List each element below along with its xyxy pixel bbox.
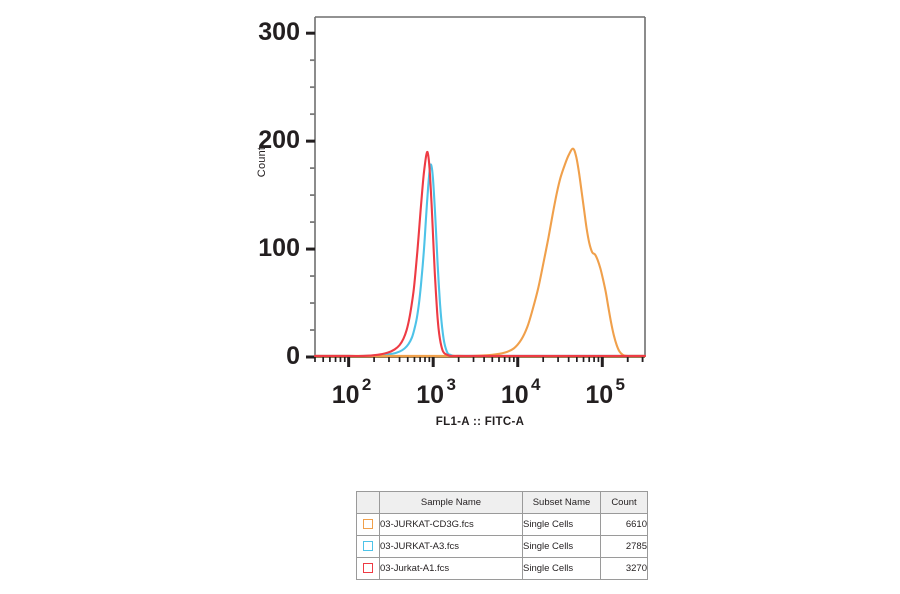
- legend-header-count: Count: [601, 492, 648, 514]
- legend-count: 2785: [601, 536, 648, 558]
- x-axis-title: FL1-A :: FITC-A: [315, 416, 645, 428]
- legend-subset-name: Single Cells: [523, 558, 601, 580]
- legend-header-subset-name: Subset Name: [523, 492, 601, 514]
- legend-row[interactable]: 03-Jurkat-A1.fcsSingle Cells3270: [357, 558, 648, 580]
- y-tick-label: 300: [258, 18, 300, 46]
- legend-sample-name: 03-JURKAT-A3.fcs: [380, 536, 523, 558]
- svg-text:5: 5: [616, 375, 625, 394]
- legend-row[interactable]: 03-JURKAT-A3.fcsSingle Cells2785: [357, 536, 648, 558]
- legend-color-swatch-cell: [357, 558, 380, 580]
- svg-text:3: 3: [446, 375, 455, 394]
- x-tick-label: 103: [416, 375, 456, 409]
- legend-sample-name: 03-JURKAT-CD3G.fcs: [380, 514, 523, 536]
- legend-header-sample-name: Sample Name: [380, 492, 523, 514]
- x-tick-label: 102: [332, 375, 372, 409]
- svg-text:2: 2: [362, 375, 371, 394]
- legend-subset-name: Single Cells: [523, 514, 601, 536]
- legend-count: 3270: [601, 558, 648, 580]
- legend-header-row: Sample Name Subset Name Count: [357, 492, 648, 514]
- svg-text:4: 4: [531, 375, 541, 394]
- legend-count: 6610: [601, 514, 648, 536]
- legend-header-swatch: [357, 492, 380, 514]
- svg-text:10: 10: [416, 381, 444, 409]
- legend-color-swatch-cell: [357, 514, 380, 536]
- legend-sample-name: 03-Jurkat-A1.fcs: [380, 558, 523, 580]
- svg-text:10: 10: [332, 381, 360, 409]
- x-tick-label: 104: [501, 375, 541, 409]
- legend-subset-name: Single Cells: [523, 536, 601, 558]
- x-tick-label: 105: [585, 375, 625, 409]
- legend-table: Sample Name Subset Name Count 03-JURKAT-…: [356, 491, 648, 580]
- svg-text:10: 10: [585, 381, 613, 409]
- legend-row[interactable]: 03-JURKAT-CD3G.fcsSingle Cells6610: [357, 514, 648, 536]
- histogram-plot: 0100200300102103104105: [205, 4, 665, 444]
- series-color-swatch: [363, 541, 373, 551]
- y-axis-title: Count: [256, 122, 268, 202]
- svg-text:10: 10: [501, 381, 529, 409]
- series-curve: [315, 149, 645, 356]
- y-tick-label: 100: [258, 234, 300, 262]
- series-color-swatch: [363, 519, 373, 529]
- legend-color-swatch-cell: [357, 536, 380, 558]
- histogram-svg: 0100200300102103104105: [205, 4, 665, 444]
- legend-table-container: Sample Name Subset Name Count 03-JURKAT-…: [356, 491, 645, 580]
- flow-cytometry-figure: 0100200300102103104105 Count FL1-A :: FI…: [0, 0, 900, 594]
- legend-body: 03-JURKAT-CD3G.fcsSingle Cells661003-JUR…: [357, 514, 648, 580]
- y-tick-label: 0: [286, 342, 300, 370]
- series-color-swatch: [363, 563, 373, 573]
- series-curve: [315, 164, 645, 356]
